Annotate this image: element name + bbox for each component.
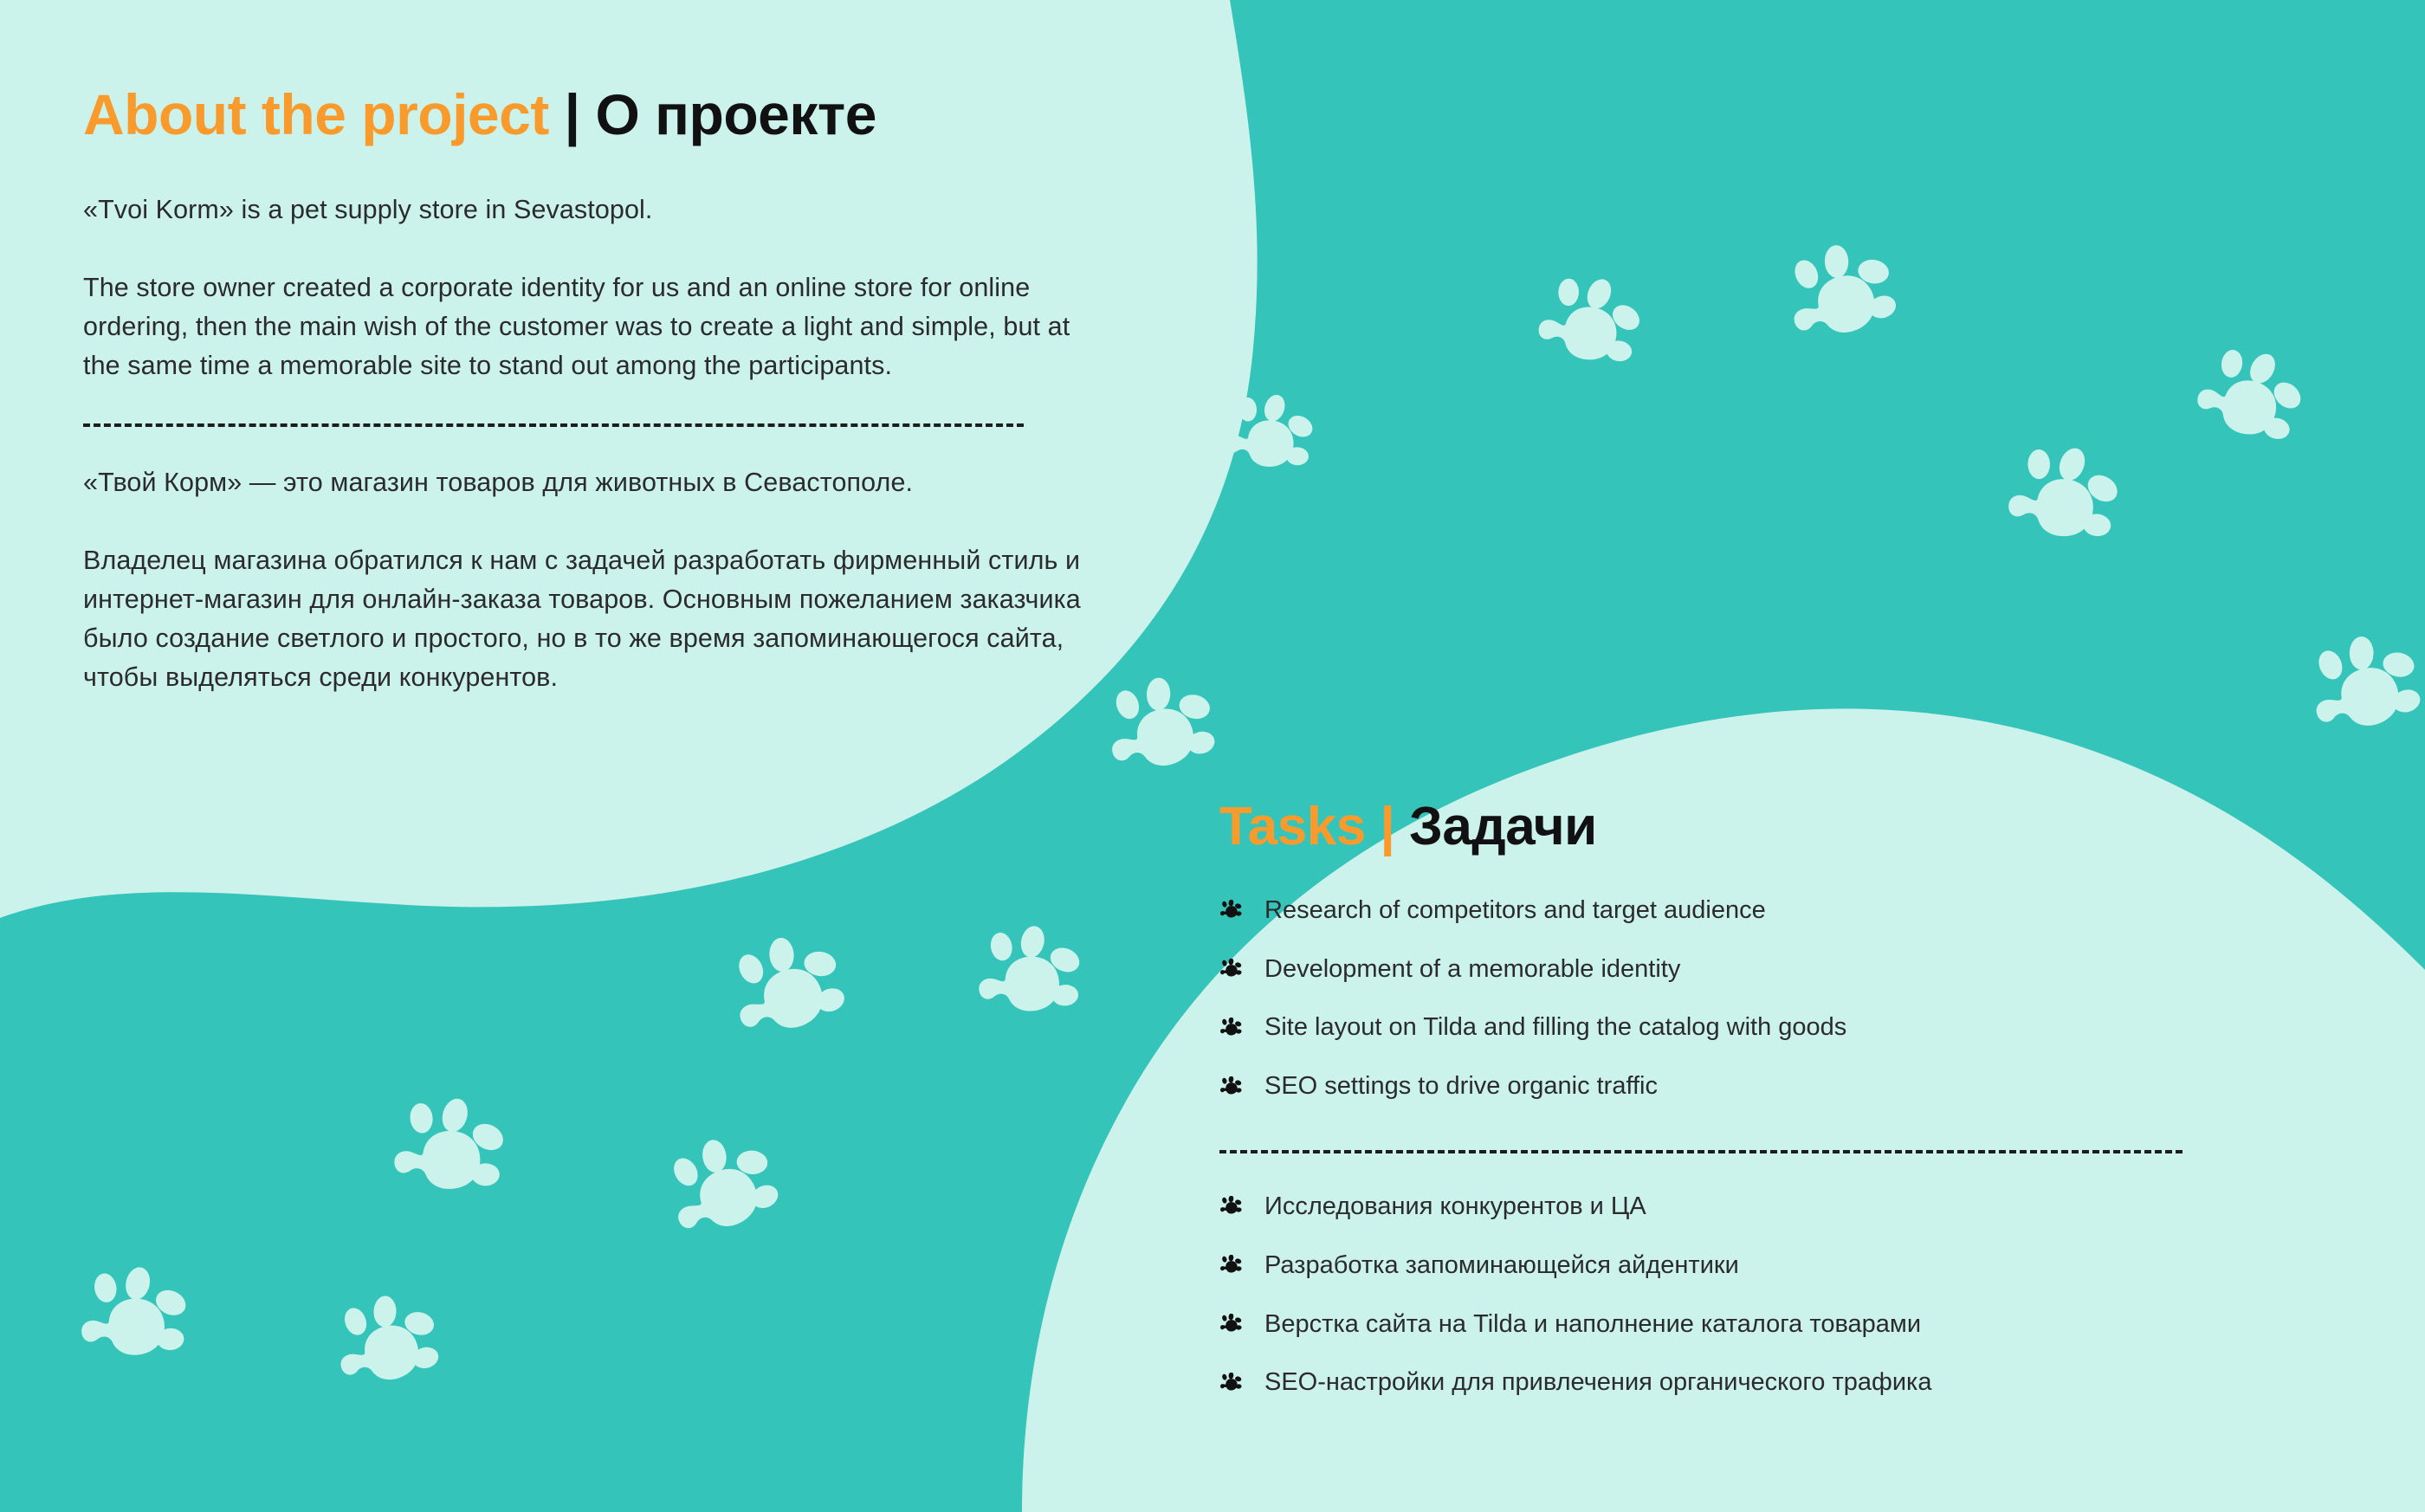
task-ru-label-1: Разработка запоминающейся айдентики — [1264, 1250, 1739, 1281]
about-dashed-divider — [83, 423, 1024, 427]
about-the-project-section: About the project | О проекте «Tvoi Korm… — [83, 85, 1105, 697]
task-list-item: SEO-настройки для привлечения органическ… — [1219, 1367, 2293, 1398]
about-paragraph-en-1: «Tvoi Korm» is a pet supply store in Sev… — [83, 191, 1105, 229]
task-en-label-1: Development of a memorable identity — [1264, 954, 1680, 985]
tasks-title-russian: Задачи — [1409, 797, 1597, 856]
paw-print-icon — [1219, 1255, 1242, 1276]
task-list-item: Site layout on Tilda and filling the cat… — [1219, 1012, 2293, 1043]
about-title-separator: | — [565, 82, 580, 146]
paw-print-icon — [1219, 1196, 1242, 1217]
paw-print-icon — [1219, 1373, 1242, 1393]
task-ru-label-2: Верстка сайта на Tilda и наполнение ката… — [1264, 1309, 1921, 1340]
tasks-section-title: Tasks | Задачи — [1219, 798, 2293, 856]
task-list-item: Разработка запоминающейся айдентики — [1219, 1250, 2293, 1281]
about-title-english: About the project — [83, 82, 549, 146]
tasks-title-english: Tasks — [1219, 797, 1366, 856]
paw-print-icon — [1219, 1314, 1242, 1334]
about-paragraph-ru-1: «Твой Корм» — это магазин товаров для жи… — [83, 463, 1105, 502]
task-en-label-2: Site layout on Tilda and filling the cat… — [1264, 1012, 1846, 1043]
tasks-title-separator: | — [1380, 797, 1394, 856]
paw-print-icon — [1219, 1018, 1242, 1038]
task-list-item: Research of competitors and target audie… — [1219, 895, 2293, 926]
paw-print-icon — [1219, 1076, 1242, 1097]
task-ru-label-0: Исследования конкурентов и ЦА — [1264, 1192, 1646, 1222]
about-title-russian: О проекте — [595, 82, 876, 146]
task-list-item: SEO settings to drive organic traffic — [1219, 1071, 2293, 1102]
task-list-item: Исследования конкурентов и ЦА — [1219, 1192, 2293, 1222]
tasks-list-english: Research of competitors and target audie… — [1219, 895, 2293, 1102]
task-list-item: Верстка сайта на Tilda и наполнение ката… — [1219, 1309, 2293, 1340]
tasks-dashed-divider — [1219, 1150, 2182, 1153]
task-ru-label-3: SEO-настройки для привлечения органическ… — [1264, 1367, 1932, 1398]
about-paragraph-ru-2: Владелец магазина обратился к нам с зада… — [83, 541, 1105, 697]
paw-print-icon — [1219, 900, 1242, 921]
task-list-item: Development of a memorable identity — [1219, 954, 2293, 985]
task-en-label-3: SEO settings to drive organic traffic — [1264, 1071, 1658, 1102]
about-section-title: About the project | О проекте — [83, 85, 1105, 145]
task-en-label-0: Research of competitors and target audie… — [1264, 895, 1766, 926]
about-paragraph-en-2: The store owner created a corporate iden… — [83, 268, 1105, 385]
paw-print-icon — [1219, 959, 1242, 979]
tasks-list-russian: Исследования конкурентов и ЦАРазработка … — [1219, 1192, 2293, 1398]
tasks-section: Tasks | Задачи Research of competitors a… — [1219, 798, 2293, 1398]
slide-canvas: About the project | О проекте «Tvoi Korm… — [0, 0, 2425, 1512]
